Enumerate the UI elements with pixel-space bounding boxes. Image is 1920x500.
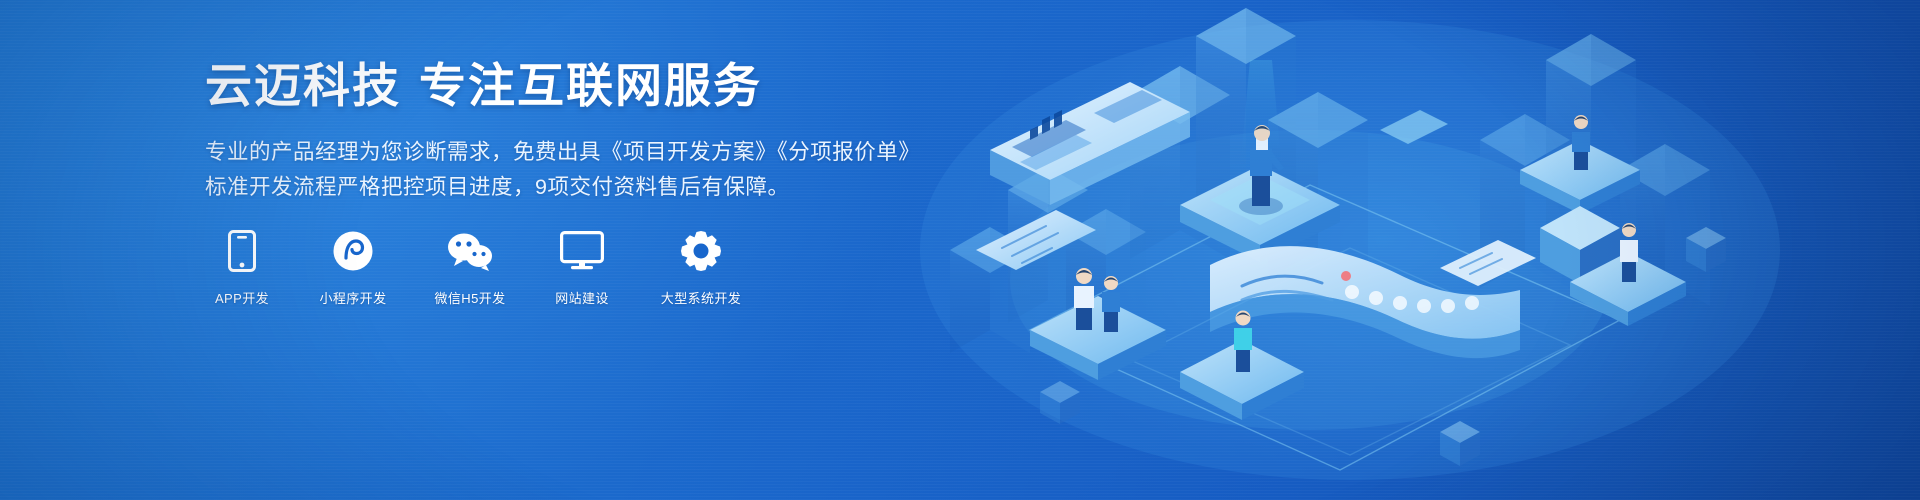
- hero-banner: 云迈科技专注互联网服务 专业的产品经理为您诊断需求，免费出具《项目开发方案》《分…: [0, 0, 1920, 500]
- service-item-website[interactable]: 网站建设: [545, 228, 619, 307]
- hero-copy: 云迈科技专注互联网服务 专业的产品经理为您诊断需求，免费出具《项目开发方案》《分…: [205, 62, 905, 205]
- mobile-phone-icon: [228, 228, 256, 274]
- headline-brand: 云迈科技: [205, 59, 401, 112]
- wechat-icon: [446, 228, 494, 274]
- monitor-icon: [560, 228, 604, 274]
- person-right-standing: [1620, 223, 1638, 282]
- person-seated-right: [1572, 115, 1590, 170]
- person-lower-right: [1234, 311, 1252, 373]
- mini-program-icon: [332, 228, 374, 274]
- hero-subtitle: 专业的产品经理为您诊断需求，免费出具《项目开发方案》《分项报价单》 标准开发流程…: [205, 135, 905, 205]
- page-title: 云迈科技专注互联网服务: [205, 62, 905, 109]
- subtitle-line-2: 标准开发流程严格把控项目进度，9项交付资料售后有保障。: [205, 170, 905, 205]
- service-label: 小程序开发: [319, 288, 386, 307]
- headline-tagline: 专注互联网服务: [419, 59, 762, 112]
- subtitle-line-1: 专业的产品经理为您诊断需求，免费出具《项目开发方案》《分项报价单》: [205, 135, 905, 170]
- service-list: APP开发 小程序开发: [205, 228, 751, 307]
- service-label: APP开发: [215, 288, 269, 307]
- illustration-isometric-data-platform: [880, 0, 1920, 500]
- service-item-app[interactable]: APP开发: [205, 228, 279, 307]
- service-item-mini-program[interactable]: 小程序开发: [311, 228, 395, 307]
- service-label: 网站建设: [555, 288, 609, 307]
- service-item-wechat-h5[interactable]: 微信H5开发: [427, 228, 513, 307]
- service-item-large-system[interactable]: 大型系统开发: [651, 228, 751, 307]
- gear-icon: [679, 228, 723, 274]
- service-label: 微信H5开发: [434, 288, 505, 307]
- service-label: 大型系统开发: [661, 288, 741, 307]
